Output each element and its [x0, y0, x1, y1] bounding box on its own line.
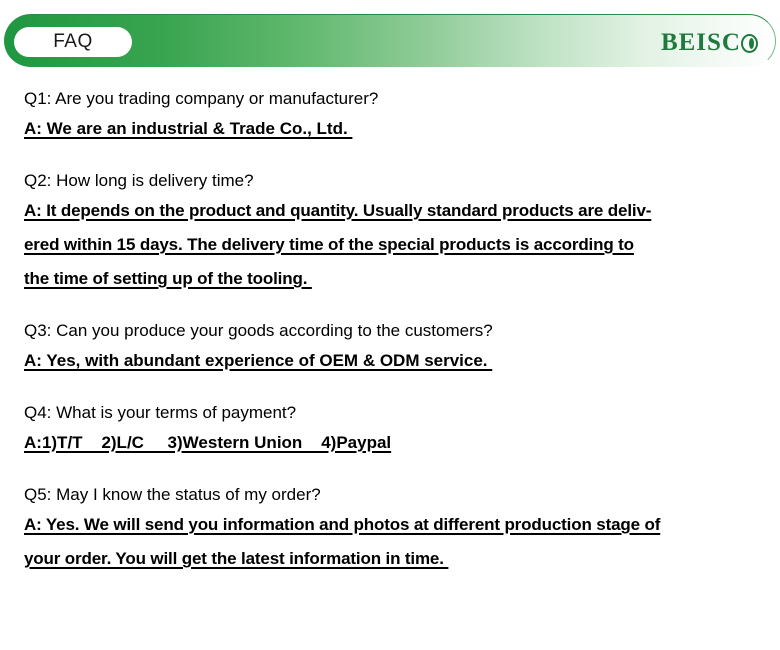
faq-answer-line: A: It depends on the product and quantit… [24, 194, 772, 228]
page-header: FAQ BEISC [4, 14, 776, 68]
faq-answer-line: A: Yes, with abundant experience of OEM … [24, 344, 772, 378]
faq-answer: A:1)T/T 2)L/C 3)Western Union 4)Paypal [24, 426, 772, 460]
logo-text: BEISC [661, 29, 741, 57]
faq-question: Q1: Are you trading company or manufactu… [24, 86, 772, 112]
faq-answer: A: Yes. We will send you information and… [24, 508, 772, 576]
faq-answer-line: A: We are an industrial & Trade Co., Ltd… [24, 112, 772, 146]
faq-question: Q4: What is your terms of payment? [24, 400, 772, 426]
faq-answer: A: We are an industrial & Trade Co., Ltd… [24, 112, 772, 146]
faq-list: Q1: Are you trading company or manufactu… [24, 86, 772, 598]
faq-question: Q3: Can you produce your goods according… [24, 318, 772, 344]
faq-answer-line: A: Yes. We will send you information and… [24, 508, 772, 542]
faq-item: Q5: May I know the status of my order? A… [24, 482, 772, 576]
faq-item: Q1: Are you trading company or manufactu… [24, 86, 772, 146]
faq-question: Q5: May I know the status of my order? [24, 482, 772, 508]
faq-item: Q3: Can you produce your goods according… [24, 318, 772, 378]
faq-tab[interactable]: FAQ [14, 27, 132, 57]
faq-answer-line: ered within 15 days. The delivery time o… [24, 228, 772, 262]
faq-item: Q4: What is your terms of payment? A:1)T… [24, 400, 772, 460]
faq-tab-label: FAQ [53, 31, 93, 53]
faq-item: Q2: How long is delivery time? A: It dep… [24, 168, 772, 296]
faq-question: Q2: How long is delivery time? [24, 168, 772, 194]
faq-answer: A: Yes, with abundant experience of OEM … [24, 344, 772, 378]
faq-answer-line: the time of setting up of the tooling. [24, 262, 772, 296]
faq-answer: A: It depends on the product and quantit… [24, 194, 772, 296]
faq-answer-line: your order. You will get the latest info… [24, 542, 772, 576]
logo-o-icon [741, 31, 762, 56]
beisco-logo: BEISC [661, 29, 762, 57]
faq-answer-line: A:1)T/T 2)L/C 3)Western Union 4)Paypal [24, 426, 772, 460]
